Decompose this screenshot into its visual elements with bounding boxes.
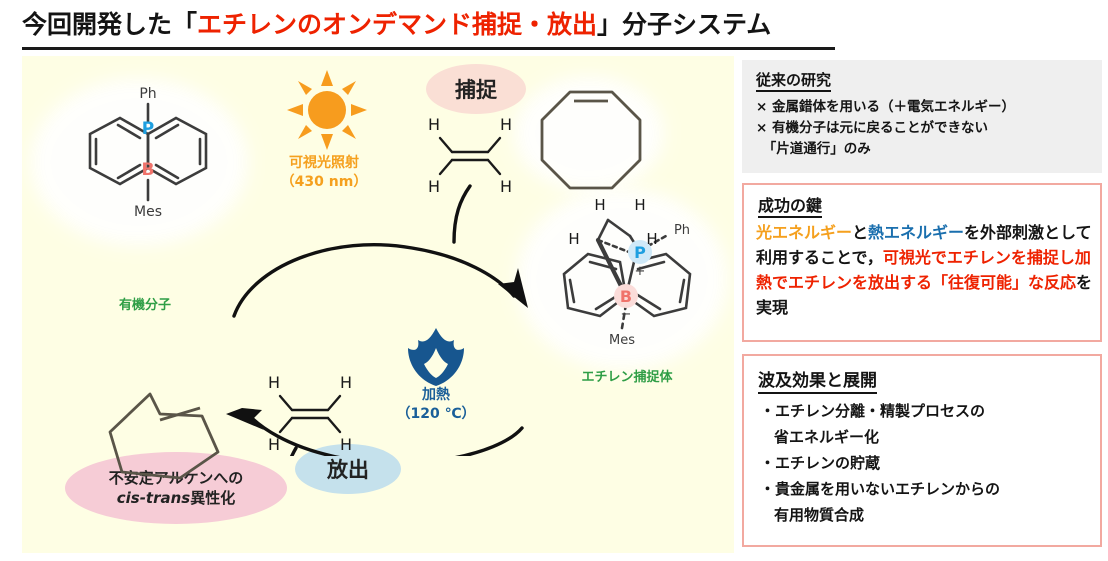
panel-prior-line-2: × 有機分子は元に戻ることができない	[756, 118, 1015, 139]
isomer-line2: cis-trans異性化	[117, 488, 236, 508]
title-highlight: エチレンのオンデマンド捕捉・放出	[197, 10, 597, 39]
impact-item-3-line2: 有用物質合成	[760, 502, 1090, 528]
organic-atom-p: P	[142, 119, 154, 139]
panel-prior-line-3: 「片道通行」のみ	[756, 139, 1015, 160]
panel-prior-line-1: × 金属錯体を用いる（＋電気エネルギー）	[756, 97, 1015, 118]
panel-impact-body: ・エチレン分離・精製プロセスの 省エネルギー化 ・エチレンの貯蔵 ・貴金属を用い…	[760, 398, 1090, 528]
ethylene-top-hydrogen-1: H	[428, 115, 440, 134]
panel-key-body: 光エネルギーと熱エネルギーを外部刺激として利用することで，可視光でエチレンを捕捉…	[756, 220, 1094, 320]
panel-prior-body: × 金属錯体を用いる（＋電気エネルギー） × 有機分子は元に戻ることができない …	[756, 97, 1015, 160]
molecule-cyclooctene-cis	[532, 84, 652, 194]
title-underline	[22, 47, 835, 50]
key-segment-and: と	[852, 223, 868, 242]
page-title-text: 今回開発した「エチレンのオンデマンド捕捉・放出」分子システム	[22, 8, 842, 42]
adduct-atom-p: P	[634, 243, 646, 262]
molecule-organic: P B Ph Mes	[50, 82, 240, 254]
page-title: 今回開発した「エチレンのオンデマンド捕捉・放出」分子システム	[22, 8, 842, 50]
adduct-charge-plus: +	[635, 264, 646, 279]
impact-item-3-line1: ・貴金属を用いないエチレンからの	[760, 480, 1000, 498]
adduct-hydrogen-2: H	[634, 196, 645, 214]
panel-prior-title: 従来の研究	[756, 69, 831, 90]
ethylene-bottom-hydrogen-2: H	[340, 373, 352, 392]
ethylene-top-hydrogen-2: H	[500, 115, 512, 134]
molecule-adduct: P B + − Ph Mes H H H H	[530, 196, 726, 372]
impact-item: ・エチレンの貯蔵	[760, 450, 1090, 476]
ethylene-bottom-hydrogen-3: H	[268, 435, 280, 454]
impact-item-1-line1: ・エチレン分離・精製プロセスの	[760, 402, 985, 420]
ethylene-top-hydrogen-4: H	[500, 177, 512, 196]
adduct-hydrogen-4: H	[646, 230, 657, 248]
molecule-cyclooctene-trans	[94, 386, 240, 486]
adduct-atom-b: B	[620, 287, 632, 306]
organic-atom-b: B	[142, 160, 155, 180]
panel-key-title: 成功の鍵	[758, 192, 822, 216]
illustration-canvas: 可視光照射 （430 nm） 加熱 （120 ℃） 捕捉 放出 不安定アルケンへ…	[22, 56, 734, 553]
molecule-ethylene-bottom: H H H H	[258, 370, 362, 456]
adduct-substituent-mes: Mes	[609, 333, 635, 348]
adduct-hydrogen-3: H	[568, 230, 579, 248]
adduct-hydrogen-1: H	[594, 196, 605, 214]
panel-impact-title: 波及効果と展開	[758, 366, 877, 391]
key-segment-heat: 熱エネルギー	[868, 223, 964, 242]
impact-item-1-line2: 省エネルギー化	[760, 424, 1090, 450]
ethylene-bottom-hydrogen-1: H	[268, 373, 280, 392]
ethylene-top-hydrogen-3: H	[428, 177, 440, 196]
pill-release-label: 放出	[327, 454, 369, 484]
organic-substituent-ph: Ph	[139, 86, 156, 102]
arrowhead-capture	[498, 268, 528, 308]
title-suffix: 」分子システム	[597, 10, 771, 39]
impact-item: ・エチレン分離・精製プロセスの 省エネルギー化	[760, 398, 1090, 450]
impact-item: ・貴金属を用いないエチレンからの 有用物質合成	[760, 476, 1090, 528]
pill-capture-label: 捕捉	[455, 74, 497, 104]
arrow-capture-path	[234, 245, 514, 316]
adduct-charge-minus: −	[621, 307, 632, 322]
isomer-cis-trans: cis-trans	[117, 489, 190, 507]
panel-key-to-success: 成功の鍵 光エネルギーと熱エネルギーを外部刺激として利用することで，可視光でエチ…	[742, 183, 1102, 342]
key-segment-light: 光エネルギー	[756, 223, 852, 242]
organic-caption: 有機分子	[60, 294, 230, 313]
adduct-caption: エチレン捕捉体	[522, 366, 732, 385]
panel-prior-research: 従来の研究 × 金属錯体を用いる（＋電気エネルギー） × 有機分子は元に戻ること…	[742, 60, 1102, 173]
panel-impact: 波及効果と展開 ・エチレン分離・精製プロセスの 省エネルギー化 ・エチレンの貯蔵…	[742, 354, 1102, 547]
impact-item-2-line1: ・エチレンの貯蔵	[760, 454, 880, 472]
sun-icon	[287, 70, 367, 150]
organic-substituent-mes: Mes	[134, 204, 162, 220]
molecule-ethylene-top: H H H H	[418, 112, 522, 198]
isomer-suffix: 異性化	[190, 489, 235, 507]
pill-capture: 捕捉	[426, 64, 526, 114]
ethylene-bottom-hydrogen-4: H	[340, 435, 352, 454]
adduct-substituent-ph: Ph	[674, 223, 690, 238]
title-prefix: 今回開発した「	[22, 10, 197, 39]
